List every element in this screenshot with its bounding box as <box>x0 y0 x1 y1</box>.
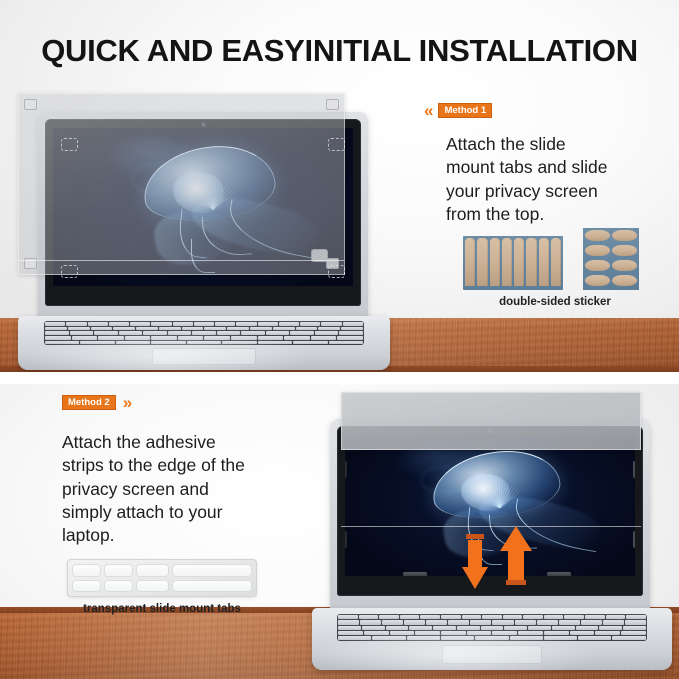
up-arrow-icon <box>500 526 532 592</box>
method-1-text-block: « Method 1 Attach the slide mount tabs a… <box>424 102 654 226</box>
slide-mount-tabs-art: transparent slide mount tabs <box>67 559 257 619</box>
laptop-base-top <box>18 316 390 370</box>
method-2-text-block: Method 2 » Attach the adhesive strips to… <box>62 394 312 547</box>
trackpad <box>152 348 256 364</box>
method-2-line-5: laptop. <box>62 524 312 547</box>
adhesive-clip-bottom-right <box>547 572 571 576</box>
sticker-strip-sheet <box>463 236 563 290</box>
method-2-line-3: privacy screen and <box>62 478 312 501</box>
method-2-line-4: simply attach to your <box>62 501 312 524</box>
keyboard-bottom <box>337 614 647 641</box>
double-sided-sticker-caption: double-sided sticker <box>455 296 655 308</box>
method-2-badge-row: Method 2 » <box>62 394 312 411</box>
slide-mount-tabs-caption: transparent slide mount tabs <box>62 603 262 615</box>
slide-mount-tabs-sheet <box>67 559 257 597</box>
panel-divider <box>0 372 679 384</box>
method-1-line-4: from the top. <box>446 203 654 226</box>
privacy-filter-sheet-top[interactable] <box>18 93 345 275</box>
method-2-body: Attach the adhesive strips to the edge o… <box>62 431 312 547</box>
method-1-panel: QUICK AND EASYINITIAL INSTALLATION <box>0 0 679 372</box>
method-1-badge-row: « Method 1 <box>424 102 654 119</box>
infographic-page: QUICK AND EASYINITIAL INSTALLATION <box>0 0 679 679</box>
method-2-badge: Method 2 <box>62 395 116 410</box>
jellyfish-wallpaper-bottom <box>345 435 635 576</box>
laptop-base-bottom <box>312 608 672 670</box>
adhesive-clip-right-bottom <box>633 531 635 548</box>
method-2-line-1: Attach the adhesive <box>62 431 312 454</box>
laptop-bezel-bottom <box>337 426 643 596</box>
method-1-badge: Method 1 <box>438 103 492 118</box>
method-1-line-1: Attach the slide <box>446 133 654 156</box>
trackpad-bottom <box>442 645 543 664</box>
method-1-line-2: mount tabs and slide <box>446 156 654 179</box>
method-1-line-3: your privacy screen <box>446 180 654 203</box>
down-arrow-icon <box>462 534 488 590</box>
method-2-line-2: strips to the edge of the <box>62 454 312 477</box>
sticker-pad-sheet <box>583 228 639 290</box>
adhesive-clip-left-top <box>345 461 347 478</box>
method-1-body: Attach the slide mount tabs and slide yo… <box>446 133 654 226</box>
keyboard <box>44 321 364 345</box>
page-title: QUICK AND EASYINITIAL INSTALLATION <box>0 33 679 69</box>
filter-seam-bottom <box>341 526 641 527</box>
privacy-filter-sheet-bottom[interactable] <box>341 392 641 450</box>
method-2-panel: Method 2 » Attach the adhesive strips to… <box>0 384 679 679</box>
chevron-left-double-icon: « <box>424 102 431 119</box>
chevron-right-double-icon: » <box>123 394 130 411</box>
adhesive-clip-bottom-left <box>403 572 427 576</box>
laptop-screen-bottom <box>345 435 635 576</box>
double-sided-sticker-art: double-sided sticker <box>455 228 655 318</box>
adhesive-clip-right-top <box>633 461 635 478</box>
adhesive-clip-left-bottom <box>345 531 347 548</box>
